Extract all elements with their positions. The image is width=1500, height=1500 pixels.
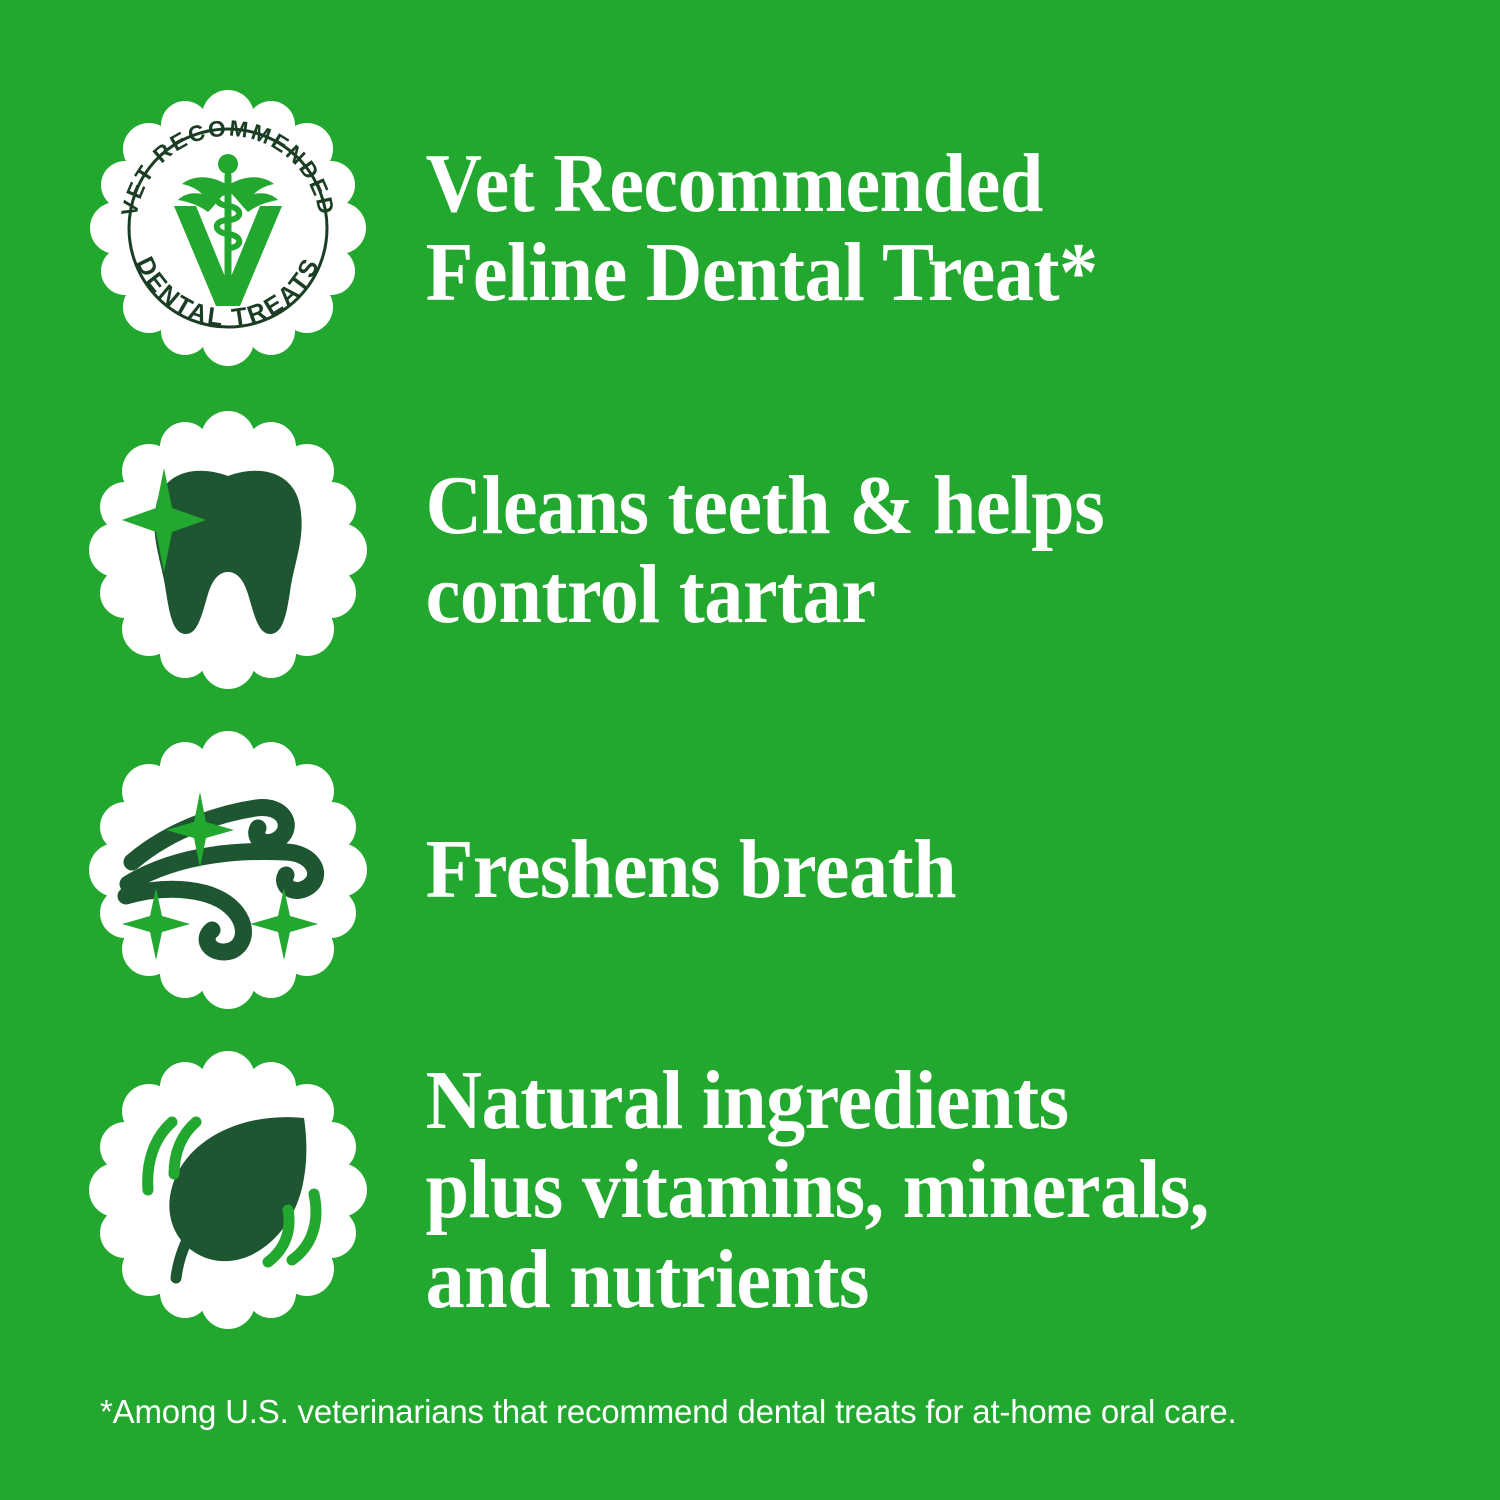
- benefit-label-freshens-breath: Freshens breath: [368, 825, 1345, 914]
- wind-swirl-sparkle-icon: [88, 730, 368, 1010]
- benefit-row-freshens-breath: Freshens breath: [88, 730, 1418, 1010]
- benefits-list: VET RECOMMENDED DENTAL TREATS: [0, 0, 1500, 1380]
- footnote-disclaimer: *Among U.S. veterinarians that recommend…: [100, 1392, 1430, 1432]
- benefit-row-vet-recommended: VET RECOMMENDED DENTAL TREATS: [88, 88, 1418, 368]
- leaf-motion-icon: [88, 1050, 368, 1330]
- benefit-label-vet-recommended: Vet Recommended Feline Dental Treat*: [368, 139, 1345, 317]
- benefit-row-natural-ingredients: Natural ingredients plus vitamins, miner…: [88, 1050, 1418, 1330]
- vet-recommended-badge-icon: VET RECOMMENDED DENTAL TREATS: [88, 88, 368, 368]
- tooth-sparkle-icon: [88, 410, 368, 690]
- benefit-row-cleans-teeth: Cleans teeth & helps control tartar: [88, 410, 1418, 690]
- benefit-label-cleans-teeth: Cleans teeth & helps control tartar: [368, 461, 1345, 639]
- benefit-label-natural-ingredients: Natural ingredients plus vitamins, miner…: [368, 1056, 1345, 1323]
- product-benefits-poster: VET RECOMMENDED DENTAL TREATS: [0, 0, 1500, 1500]
